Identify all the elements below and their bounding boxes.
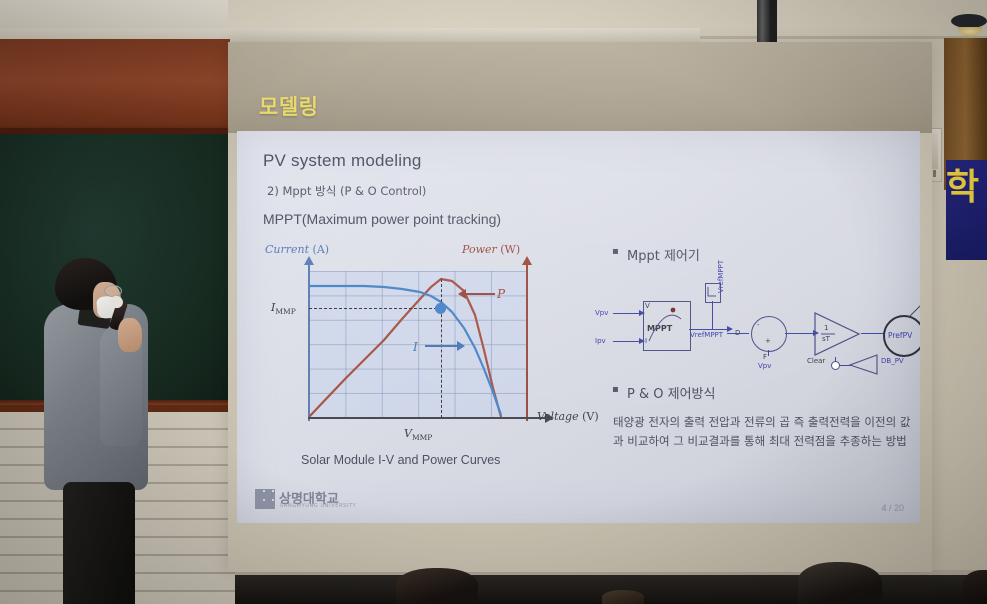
bd-label-prefpv: PrefPV [888,331,912,340]
slide-subheading-2: MPPT(Maximum power point tracking) [263,211,501,227]
po-description-text: 태양광 전자의 출력 전압과 전류의 곱 즉 출력전력을 이전의 값과 비교하여… [613,413,913,451]
maximum-power-point-marker [435,303,446,314]
current-curve-label: I [413,340,418,354]
current-label-arrow [425,345,457,347]
power-curve-label: P [497,287,505,301]
bullet-mppt-controller: Mppt 제어기 [627,245,700,264]
mppt-block-diagram: Vpv Ipv MPPT V I VrefMPPT Vr [595,271,915,376]
bullet-po-control: P & O 제어방식 [627,383,715,402]
bd-annotation-leader [907,285,920,321]
bd-wire-to-integrator [785,333,813,334]
ceiling-light [951,14,987,28]
bd-buffer-triangle [847,353,881,377]
projection-screen: 모델링 PV system modeling 2) Mppt 방식 (P & O… [228,42,932,572]
university-logo-mark [255,489,275,509]
bd-wire-vpv [613,313,639,314]
bd-wire-output [861,333,885,334]
wall-banner: 학 [946,160,987,260]
bd-label-clear: Clear [807,357,825,365]
bd-label-db-pv: DB_PV [881,357,904,365]
bd-label-vrefmppt: VrefMPPT [690,331,723,339]
voltage-axis-label: Voltage (V) [537,410,599,423]
slide-page-number: 4 / 20 [881,503,904,513]
bd-integrator-triangle [813,311,861,357]
bd-label-vpv-feedback: Vpv [758,362,771,370]
bd-label-vpv-input: Vpv [595,309,608,317]
bd-wire-sample [712,301,713,329]
bd-wire-vrefmppt [689,329,727,330]
banner-text: 학 [946,170,987,206]
bd-label-sum-minus: - [757,321,760,329]
power-axis-label: Power (W) [462,243,520,256]
bd-inverter-bubble [831,361,840,370]
vmmp-tick-label: VMMP [404,427,432,442]
audience-head-1 [396,568,478,604]
bd-label-sum-plus: + [765,337,771,345]
voltage-axis [308,417,546,419]
presenter-legs [63,482,135,604]
current-axis [308,263,310,421]
slide-header-title: 모델링 [259,91,318,121]
chart-caption: Solar Module I-V and Power Curves [301,453,500,467]
bd-sample-icon [705,283,719,301]
wood-panel-top [0,39,230,132]
immp-dashed-line [309,308,442,309]
bd-label-integrator-num: 1 [824,324,828,332]
vmmp-dashed-line [441,279,442,418]
presenter-hand [118,318,142,352]
bd-wire-ipv [613,341,639,342]
slide-header-bar [228,42,932,133]
bd-mppt-curve-icon [643,301,689,349]
bd-wire-d [727,333,749,334]
bd-label-f-signal: F [763,353,767,361]
bd-wire-f [768,350,769,356]
iv-power-chart: Current (A) Power (W) Voltage (V) IMMP V… [249,235,569,475]
power-label-arrow [465,293,495,295]
immp-tick-label: IMMP [271,301,296,316]
audience-head-2 [602,590,644,604]
bd-label-ipv-input: Ipv [595,337,606,345]
audience-head-4 [962,570,987,604]
bd-label-integrator-den: sT [822,335,830,343]
slide-heading: PV system modeling [263,151,422,171]
current-axis-label: Current (A) [265,243,329,256]
audience-head-3 [798,562,882,604]
slide-content: PV system modeling 2) Mppt 방식 (P & O Con… [237,131,920,523]
power-axis [526,263,528,421]
lecture-hall-scene: 학 모델링 PV system modeling 2) Mppt 방식 (P &… [0,0,987,604]
slide-subheading: 2) Mppt 방식 (P & O Control) [267,183,426,199]
university-logo-english: SANGMYUNG UNIVERSITY [280,503,356,509]
